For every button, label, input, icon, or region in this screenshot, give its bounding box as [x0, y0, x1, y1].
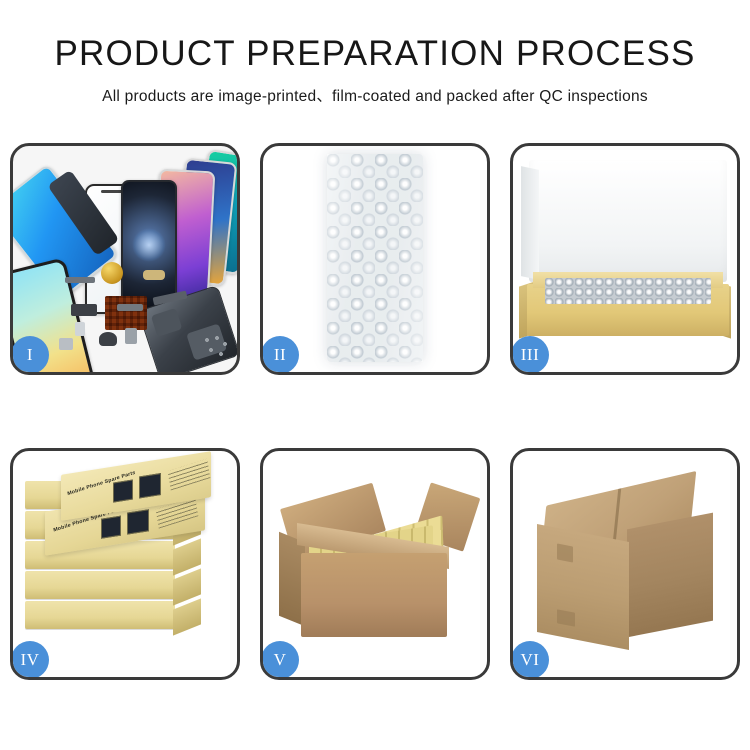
stacked-box [25, 601, 175, 629]
carton-side-face [627, 513, 713, 638]
step-panel-5: V [260, 448, 490, 680]
speaker-component [101, 262, 123, 284]
bubble-wrapped-contents [545, 278, 711, 304]
step-badge-2: II [261, 336, 299, 374]
bracket-part [117, 304, 143, 311]
box-print-swatch [101, 516, 121, 539]
page-subtitle: All products are image-printed、film-coat… [0, 84, 750, 106]
bubble-wrap-illustration [263, 146, 487, 372]
carton-tape-mark [557, 543, 573, 562]
phone-parts-illustration [13, 146, 237, 372]
step-panel-6: VI [510, 448, 740, 680]
stacked-boxes-illustration: Mobile Phone Spare Parts Mobile Phone Sp… [13, 451, 237, 677]
step-badge-6: VI [511, 641, 549, 679]
page-title: PRODUCT PREPARATION PROCESS [0, 34, 750, 74]
gold-bracket-part [143, 270, 165, 280]
stacked-box [25, 571, 175, 599]
process-step-grid: I II III [10, 143, 740, 680]
step-badge-1: I [11, 336, 49, 374]
bubble-wrap-sleeve [327, 154, 423, 362]
sealed-carton-illustration [513, 451, 737, 677]
carton-filling-illustration [263, 451, 487, 677]
step-panel-4: Mobile Phone Spare Parts Mobile Phone Sp… [10, 448, 240, 680]
flex-cable-part [65, 277, 95, 283]
box-print-swatch [127, 509, 149, 534]
sensor-part [59, 338, 73, 350]
header: PRODUCT PREPARATION PROCESS All products… [0, 0, 750, 106]
step-badge-4: IV [11, 641, 49, 679]
connector-chip [105, 296, 147, 330]
step-badge-3: III [511, 336, 549, 374]
box-print-swatch [139, 473, 161, 498]
step-panel-2: II [260, 143, 490, 375]
camera-module-part [71, 304, 97, 316]
sim-tray-part [75, 322, 85, 336]
carton-front-face [537, 524, 629, 650]
step-panel-3: III [510, 143, 740, 375]
button-part [125, 328, 137, 344]
step-panel-1: I [10, 143, 240, 375]
inner-box-illustration [513, 146, 737, 372]
screws-group [203, 336, 231, 358]
product-preparation-infographic: PRODUCT PREPARATION PROCESS All products… [0, 0, 750, 750]
box-print-textlines [168, 459, 211, 491]
vibrator-part [99, 332, 117, 346]
box-stack: Mobile Phone Spare Parts Mobile Phone Sp… [21, 477, 235, 657]
box-lid [529, 160, 727, 282]
box-print-swatch [113, 479, 133, 502]
carton-body [301, 553, 447, 637]
step-badge-5: V [261, 641, 299, 679]
phone-screen-dark [121, 180, 177, 312]
